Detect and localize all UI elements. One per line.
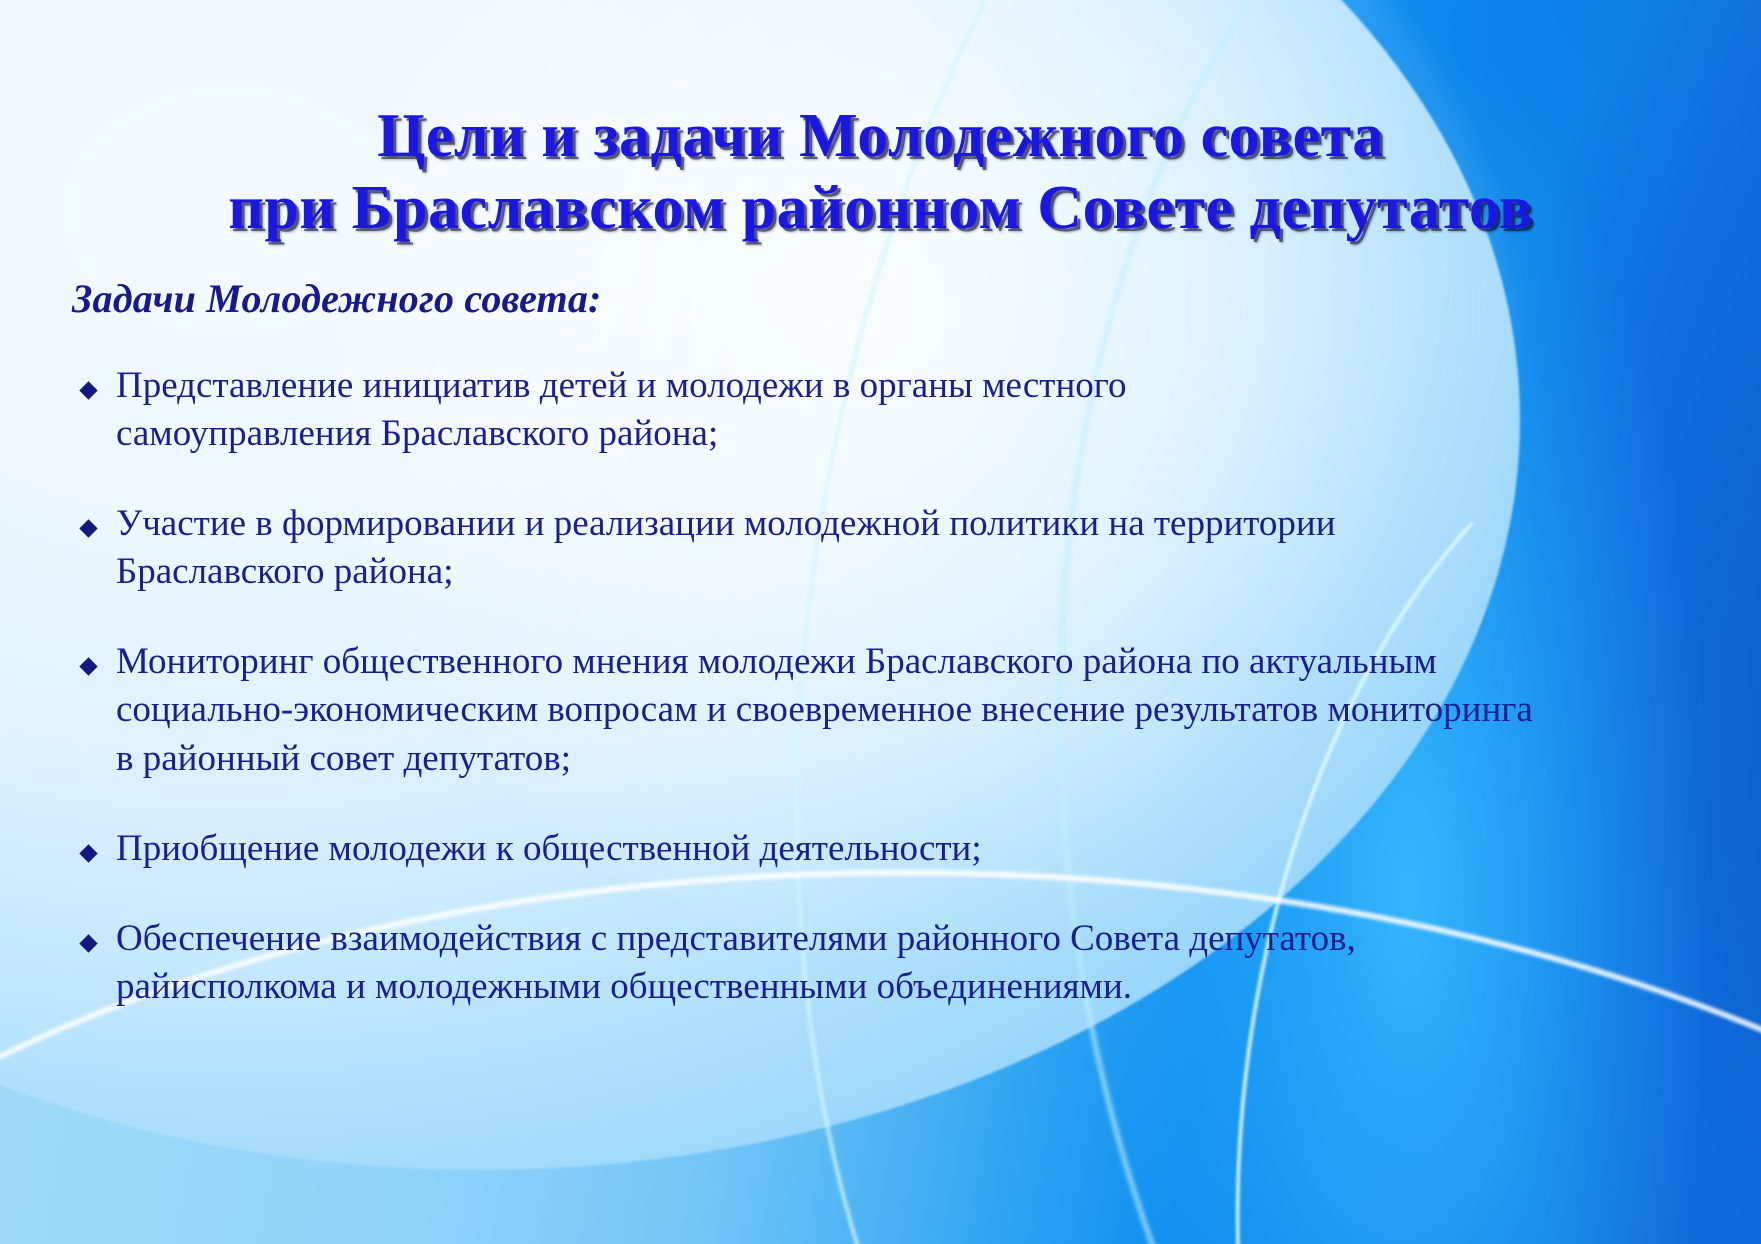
list-item-text: Приобщение молодежи к общественной деяте… — [116, 825, 1296, 873]
diamond-bullet-icon — [79, 658, 97, 676]
diamond-bullet-icon — [79, 934, 97, 952]
list-item-text: Мониторинг общественного мнения молодежи… — [116, 638, 1536, 782]
diamond-bullet-icon — [79, 519, 97, 537]
list-item: Участие в формировании и реализации моло… — [68, 500, 1536, 596]
list-item-text: Обеспечение взаимодействия с представите… — [116, 915, 1536, 1011]
diamond-bullet-icon — [79, 844, 97, 862]
slide-title: Цели и задачи Молодежного совета при Бра… — [0, 100, 1761, 245]
slide-content: Цели и задачи Молодежного совета при Бра… — [0, 0, 1761, 1244]
list-item-text: Участие в формировании и реализации моло… — [116, 500, 1536, 596]
list-item: Обеспечение взаимодействия с представите… — [68, 915, 1536, 1011]
bullet-list: Представление инициатив детей и молодежи… — [68, 362, 1508, 1011]
list-item-text: Представление инициатив детей и молодежи… — [116, 362, 1296, 458]
presentation-slide: Цели и задачи Молодежного совета при Бра… — [0, 0, 1761, 1244]
diamond-bullet-icon — [79, 381, 97, 399]
list-item: Представление инициатив детей и молодежи… — [68, 362, 1296, 458]
list-item: Приобщение молодежи к общественной деяте… — [68, 825, 1296, 873]
slide-subtitle: Задачи Молодежного совета: — [72, 275, 602, 322]
list-item: Мониторинг общественного мнения молодежи… — [68, 638, 1536, 782]
